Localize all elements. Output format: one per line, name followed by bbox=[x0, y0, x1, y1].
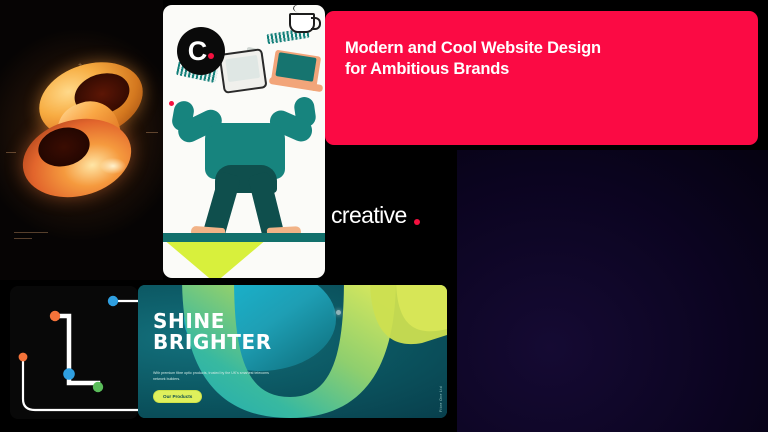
logo-dot-icon bbox=[208, 53, 214, 59]
headline-text: Modern and Cool Website Design for Ambit… bbox=[345, 38, 734, 81]
line-art-svg bbox=[10, 286, 138, 419]
banner-subtitle: With premium fibre optic products, trust… bbox=[153, 371, 281, 382]
banner-title: SHINE BRIGHTER bbox=[153, 311, 272, 353]
sculpture-specular-highlight bbox=[100, 158, 126, 174]
tile-creative-wordmark[interactable]: creative bbox=[325, 150, 445, 278]
creative-wordmark: creative bbox=[331, 202, 420, 229]
tile-headline-card[interactable]: Modern and Cool Website Design for Ambit… bbox=[325, 11, 758, 145]
monitor-head-icon bbox=[218, 48, 267, 94]
accent-dot-red bbox=[169, 101, 174, 106]
creative-word: creative bbox=[331, 202, 407, 229]
logo-letter: C bbox=[188, 38, 207, 65]
brand-logo-c: C bbox=[177, 27, 225, 75]
wave-background bbox=[457, 150, 768, 432]
tick-mark bbox=[146, 132, 158, 133]
tick-mark bbox=[6, 152, 16, 153]
sculpture-shape bbox=[14, 62, 150, 202]
sparkle-icon bbox=[336, 310, 341, 315]
tick-mark bbox=[14, 232, 48, 233]
balance-beam bbox=[163, 233, 325, 242]
banner-vertical-caption: Fibre One Ltd bbox=[439, 386, 443, 412]
crosshair-icon: + bbox=[78, 62, 82, 69]
tile-illustration[interactable]: C bbox=[163, 5, 325, 278]
tick-mark bbox=[14, 238, 32, 239]
coffee-cup-icon bbox=[289, 13, 315, 33]
moodboard-canvas: + C Modern and Coo bbox=[0, 0, 768, 432]
creative-dot-icon bbox=[414, 219, 420, 225]
tile-line-art[interactable] bbox=[10, 286, 138, 419]
light-beam bbox=[167, 242, 264, 278]
tile-sculpture[interactable]: + bbox=[0, 0, 163, 280]
our-products-button[interactable]: Our Products bbox=[153, 390, 202, 403]
tile-shine-banner[interactable]: SHINE BRIGHTER With premium fibre optic … bbox=[138, 285, 447, 418]
tile-iridescent-wave[interactable] bbox=[457, 150, 768, 432]
